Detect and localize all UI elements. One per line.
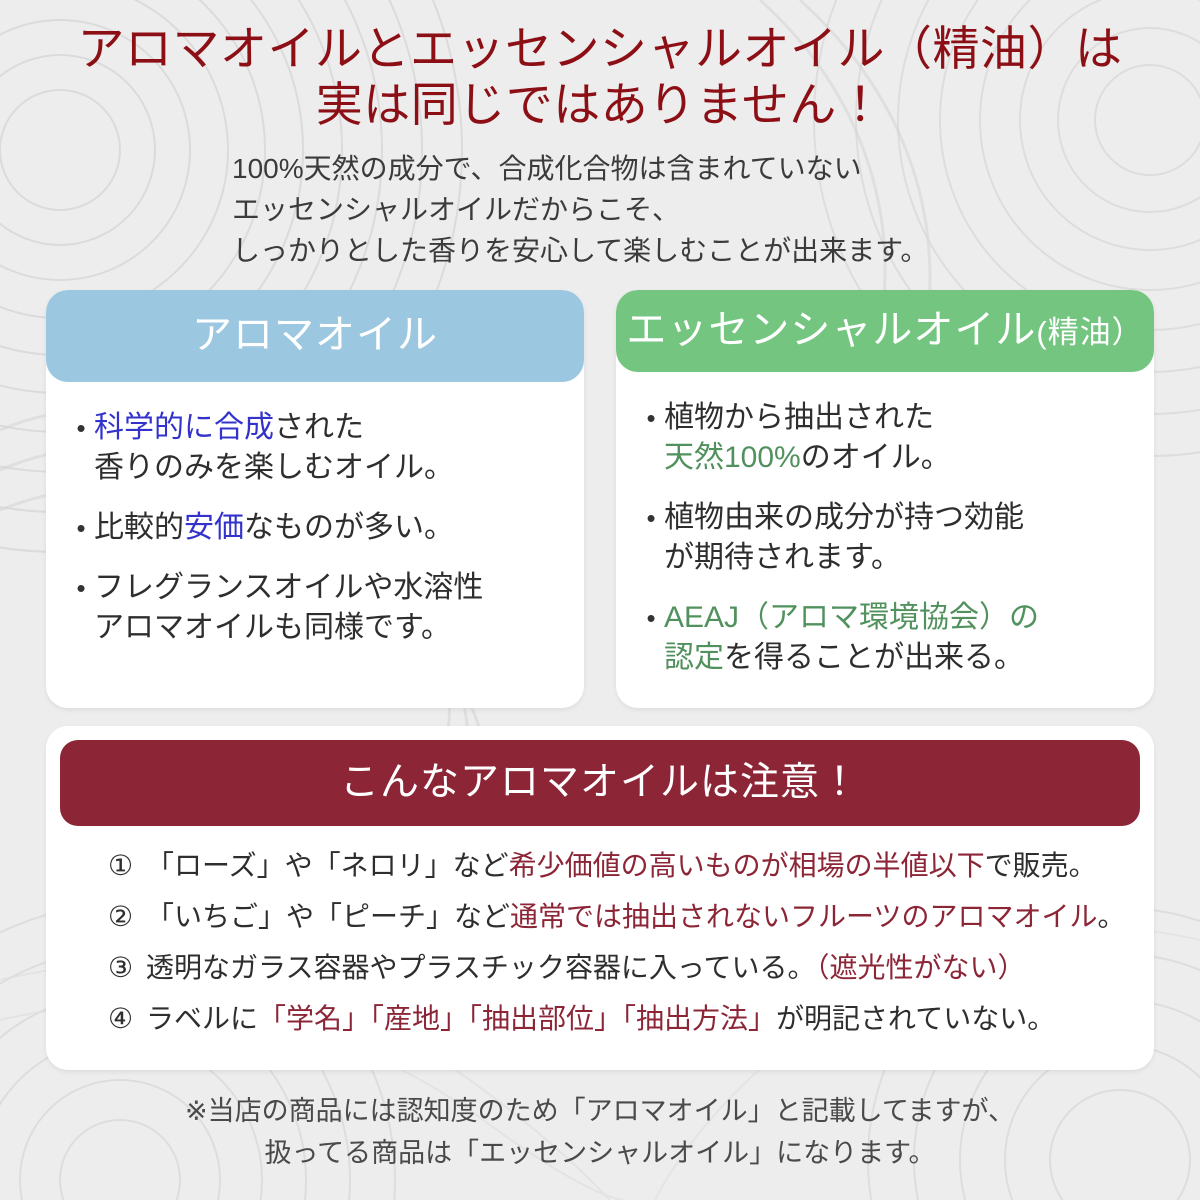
- comparison-cards: アロマオイル • 科学的に合成された 香りのみを楽しむオイル。 • 比較的安価な…: [46, 290, 1154, 708]
- warning-panel: こんなアロマオイルは注意！ ① 「ローズ」や「ネロリ」など希少価値の高いものが相…: [46, 726, 1154, 1070]
- list-item: • フレグランスオイルや水溶性 アロマオイルも同様です。: [68, 568, 562, 648]
- bullet-dot-icon: •: [68, 568, 94, 608]
- highlight-text: AEAJ（アロマ環境協会）の: [664, 601, 1039, 634]
- warning-banner-text: こんなアロマオイルは注意！: [340, 761, 860, 805]
- bullet-text: 科学的に合成された 香りのみを楽しむオイル。: [94, 408, 454, 488]
- plain-text: 比較的: [94, 511, 184, 544]
- plain-text: 香りのみを楽しむオイル。: [94, 451, 454, 484]
- plain-text: のオイル。: [801, 441, 951, 474]
- card-aroma-oil-header: アロマオイル: [46, 290, 584, 382]
- footer-line-1: ※当店の商品には認知度のため「アロマオイル」と記載してますが、: [0, 1090, 1200, 1132]
- bullet-dot-icon: •: [638, 598, 664, 638]
- plain-text: 植物由来の成分が持つ効能: [664, 501, 1024, 534]
- card-aroma-oil-title-main: アロマオイル: [192, 313, 438, 357]
- card-essential-oil: エッセンシャルオイル(精油） • 植物から抽出された 天然100%のオイル。 •…: [616, 290, 1154, 708]
- bullet-dot-icon: •: [68, 408, 94, 448]
- plain-text: なものが多い。: [244, 511, 454, 544]
- highlight-text: 「学名」「産地」「抽出部位」「抽出方法」: [258, 1003, 776, 1034]
- plain-text: が期待されます。: [664, 541, 901, 574]
- list-item: • 植物由来の成分が持つ効能 が期待されます。: [638, 498, 1132, 578]
- lead-line-3: しっかりとした香りを安心して楽しむことが出来ます。: [232, 230, 992, 271]
- card-essential-oil-header: エッセンシャルオイル(精油）: [616, 290, 1154, 372]
- list-item-number: ③: [108, 946, 146, 990]
- lead-line-1: 100%天然の成分で、合成化合物は含まれていない: [232, 148, 992, 189]
- lead-line-2: エッセンシャルオイルだからこそ、: [232, 189, 992, 230]
- warning-banner: こんなアロマオイルは注意！: [60, 740, 1140, 826]
- list-item-number: ④: [108, 997, 146, 1041]
- card-aroma-oil-title: アロマオイル: [192, 313, 438, 360]
- list-item: ③ 透明なガラス容器やプラスチック容器に入っている。（遮光性がない）: [108, 946, 1126, 990]
- list-item-text: 「ローズ」や「ネロリ」など希少価値の高いものが相場の半値以下で販売。: [146, 844, 1097, 888]
- list-item: • AEAJ（アロマ環境協会）の 認定を得ることが出来る。: [638, 598, 1132, 678]
- plain-text: された: [274, 411, 364, 444]
- plain-text: ラベルに: [146, 1003, 258, 1034]
- list-item-text: ラベルに「学名」「産地」「抽出部位」「抽出方法」が明記されていない。: [146, 997, 1055, 1041]
- list-item-number: ①: [108, 844, 146, 888]
- highlight-text: 天然100%: [664, 441, 801, 474]
- bullet-text: 植物から抽出された 天然100%のオイル。: [664, 398, 951, 478]
- list-item: • 科学的に合成された 香りのみを楽しむオイル。: [68, 408, 562, 488]
- highlight-text: （遮光性がない）: [815, 952, 1025, 983]
- highlight-text: 希少価値の高いものが相場の半値以下: [509, 850, 985, 881]
- highlight-text: 科学的に合成: [94, 411, 274, 444]
- list-item-text: 「いちご」や「ピーチ」など通常では抽出されないフルーツのアロマオイル。: [146, 895, 1125, 939]
- list-item-number: ②: [108, 895, 146, 939]
- footer-line-2: 扱ってる商品は「エッセンシャルオイル」になります。: [0, 1132, 1200, 1174]
- highlight-text: 認定: [664, 641, 724, 674]
- bullet-dot-icon: •: [68, 508, 94, 548]
- bullet-text: AEAJ（アロマ環境協会）の 認定を得ることが出来る。: [664, 598, 1039, 678]
- plain-text: 。: [1097, 901, 1125, 932]
- bullet-text: フレグランスオイルや水溶性 アロマオイルも同様です。: [94, 568, 483, 648]
- plain-text: 「ローズ」や「ネロリ」など: [146, 850, 509, 881]
- highlight-text: 通常では抽出されないフルーツのアロマオイル: [510, 901, 1097, 932]
- card-essential-oil-title: エッセンシャルオイル(精油）: [626, 308, 1143, 355]
- list-item: ④ ラベルに「学名」「産地」「抽出部位」「抽出方法」が明記されていない。: [108, 997, 1126, 1041]
- card-essential-oil-body: • 植物から抽出された 天然100%のオイル。 • 植物由来の成分が持つ効能 が…: [616, 372, 1154, 708]
- footer-note: ※当店の商品には認知度のため「アロマオイル」と記載してますが、 扱ってる商品は「…: [0, 1090, 1200, 1174]
- plain-text: 「いちご」や「ピーチ」など: [146, 901, 510, 932]
- title-line-2: 実は同じではありません！: [0, 78, 1200, 134]
- highlight-text: 安価: [184, 511, 244, 544]
- card-essential-oil-title-sub: (精油）: [1036, 315, 1143, 350]
- card-essential-oil-title-main: エッセンシャルオイル: [626, 308, 1036, 352]
- plain-text: アロマオイルも同様です。: [94, 611, 451, 644]
- plain-text: を得ることが出来る。: [724, 641, 1024, 674]
- list-item: • 植物から抽出された 天然100%のオイル。: [638, 398, 1132, 478]
- plain-text: 透明なガラス容器やプラスチック容器に入っている。: [146, 952, 815, 983]
- list-item: ① 「ローズ」や「ネロリ」など希少価値の高いものが相場の半値以下で販売。: [108, 844, 1126, 888]
- plain-text: が明記されていない。: [776, 1003, 1055, 1034]
- bullet-text: 植物由来の成分が持つ効能 が期待されます。: [664, 498, 1024, 578]
- bullet-dot-icon: •: [638, 498, 664, 538]
- card-aroma-oil: アロマオイル • 科学的に合成された 香りのみを楽しむオイル。 • 比較的安価な…: [46, 290, 584, 708]
- warning-list: ① 「ローズ」や「ネロリ」など希少価値の高いものが相場の半値以下で販売。 ② 「…: [46, 826, 1154, 1041]
- list-item-text: 透明なガラス容器やプラスチック容器に入っている。（遮光性がない）: [146, 946, 1026, 990]
- plain-text: 植物から抽出された: [664, 401, 934, 434]
- plain-text: フレグランスオイルや水溶性: [94, 571, 483, 604]
- bullet-text: 比較的安価なものが多い。: [94, 508, 454, 548]
- lead-paragraph: 100%天然の成分で、合成化合物は含まれていない エッセンシャルオイルだからこそ…: [232, 148, 992, 271]
- card-aroma-oil-body: • 科学的に合成された 香りのみを楽しむオイル。 • 比較的安価なものが多い。 …: [46, 382, 584, 708]
- infographic-page: アロマオイルとエッセンシャルオイル（精油）は 実は同じではありません！ 100%…: [0, 0, 1200, 1200]
- title-line-1: アロマオイルとエッセンシャルオイル（精油）は: [0, 22, 1200, 78]
- bullet-dot-icon: •: [638, 398, 664, 438]
- list-item: ② 「いちご」や「ピーチ」など通常では抽出されないフルーツのアロマオイル。: [108, 895, 1126, 939]
- plain-text: で販売。: [985, 850, 1097, 881]
- page-title: アロマオイルとエッセンシャルオイル（精油）は 実は同じではありません！: [0, 22, 1200, 134]
- list-item: • 比較的安価なものが多い。: [68, 508, 562, 548]
